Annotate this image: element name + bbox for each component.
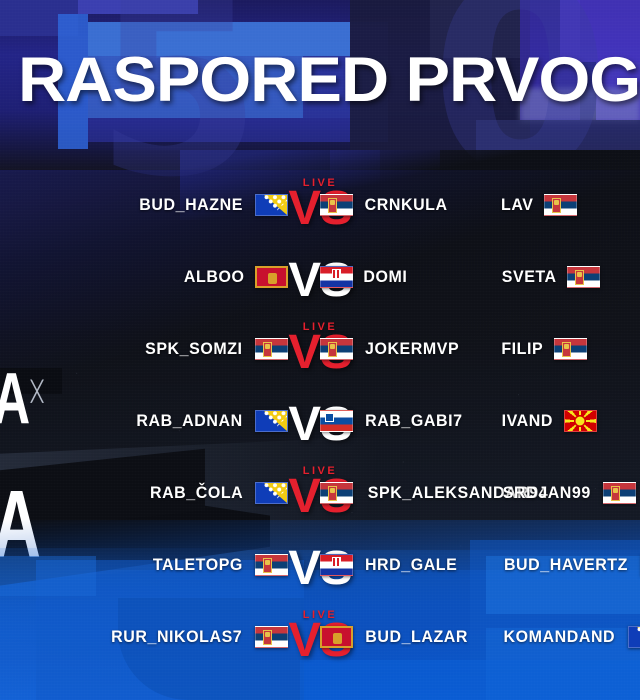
match-row[interactable]: SPK_SOMZILIVEVSJOKERMVPFILIP <box>0 313 640 385</box>
player-name-away: RAB_GABI7 <box>365 411 462 431</box>
match-home-side: RUR_NIKOLAS7 <box>107 601 288 673</box>
player-name-home: BUD_HAZNE <box>139 195 243 215</box>
flag-serbia-icon <box>567 266 600 288</box>
match-row[interactable]: ALBOOLIVEVSDOMISVETA <box>0 241 640 313</box>
player-name-home: ALBOO <box>184 267 245 287</box>
match-third-column: IVAND <box>500 385 597 457</box>
player-name-third: LAV <box>501 195 533 215</box>
player-name-third: KOMANDAND <box>504 627 616 647</box>
match-away-side: CRNKULA <box>320 169 450 241</box>
player-name-away: JOKERMVP <box>365 339 459 359</box>
flag-serbia-icon <box>255 626 288 648</box>
flag-serbia-icon <box>544 194 577 216</box>
player-name-third: SVETA <box>502 267 557 287</box>
player-name-home: RAB_ČOLA <box>150 483 243 503</box>
match-home-side: RAB_ČOLA <box>147 457 288 529</box>
flag-serbia-icon <box>554 338 587 360</box>
match-away-side: HRD_GALE <box>320 529 460 601</box>
match-home-side: RAB_ADNAN <box>133 385 288 457</box>
flag-bosnia-icon <box>628 626 640 648</box>
flag-serbia-icon <box>255 554 288 576</box>
flag-serbia-icon <box>320 338 353 360</box>
flag-serbia-icon <box>603 482 636 504</box>
schedule-graphic: 5 0 5 A A ╳ RASPORED PRVOG KOLA BUD_HAZN… <box>0 0 640 700</box>
match-third-column: BUD_HAVERTZ <box>500 529 640 601</box>
match-home-side: SPK_SOMZI <box>142 313 288 385</box>
flag-bosnia-icon <box>255 410 288 432</box>
match-home-side: ALBOO <box>182 241 288 313</box>
match-away-side: JOKERMVP <box>320 313 462 385</box>
flag-montenegro-icon <box>255 266 288 288</box>
match-row[interactable]: RAB_ADNANLIVEVSRAB_GABI7IVAND <box>0 385 640 457</box>
player-name-home: TALETOPG <box>153 555 243 575</box>
flag-montenegro-icon <box>320 626 353 648</box>
player-name-away: CRNKULA <box>365 195 448 215</box>
player-name-away: HRD_GALE <box>365 555 457 575</box>
flag-slovenia-icon <box>320 410 353 432</box>
player-name-third: SRDJAN99 <box>503 483 591 503</box>
match-home-side: BUD_HAZNE <box>136 169 288 241</box>
flag-croatia-icon <box>320 266 353 288</box>
flag-serbia-icon <box>320 194 353 216</box>
match-row[interactable]: BUD_HAZNELIVEVSCRNKULALAV <box>0 169 640 241</box>
match-away-side: BUD_LAZAR <box>320 601 471 673</box>
match-away-side: DOMI <box>320 241 409 313</box>
player-name-third: IVAND <box>502 411 553 431</box>
match-third-column: FILIP <box>500 313 587 385</box>
match-third-column: LAV <box>500 169 577 241</box>
match-row[interactable]: RAB_ČOLALIVEVSSPK_ALEKSANDAR94SRDJAN99 <box>0 457 640 529</box>
match-third-column: SRDJAN99 <box>500 457 636 529</box>
player-name-home: RAB_ADNAN <box>136 411 242 431</box>
flag-bosnia-icon <box>255 194 288 216</box>
match-away-side: RAB_GABI7 <box>320 385 466 457</box>
flag-serbia-icon <box>320 482 353 504</box>
player-name-away: BUD_LAZAR <box>365 627 468 647</box>
match-row[interactable]: RUR_NIKOLAS7LIVEVSBUD_LAZARKOMANDAND <box>0 601 640 673</box>
player-name-home: SPK_SOMZI <box>145 339 242 359</box>
player-name-home: RUR_NIKOLAS7 <box>111 627 242 647</box>
page-title: RASPORED PRVOG KOLA <box>18 49 640 111</box>
match-list: BUD_HAZNELIVEVSCRNKULALAVALBOOLIVEVSDOMI… <box>0 169 640 673</box>
player-name-away: DOMI <box>363 267 407 287</box>
match-row[interactable]: TALETOPGLIVEVSHRD_GALEBUD_HAVERTZ <box>0 529 640 601</box>
flag-serbia-icon <box>255 338 288 360</box>
match-home-side: TALETOPG <box>150 529 288 601</box>
player-name-third: BUD_HAVERTZ <box>504 555 628 575</box>
match-third-column: SVETA <box>500 241 600 313</box>
player-name-third: FILIP <box>501 339 543 359</box>
flag-croatia-icon <box>320 554 353 576</box>
flag-bosnia-icon <box>255 482 288 504</box>
match-third-column: KOMANDAND <box>500 601 640 673</box>
flag-north-macedonia-icon <box>564 410 597 432</box>
